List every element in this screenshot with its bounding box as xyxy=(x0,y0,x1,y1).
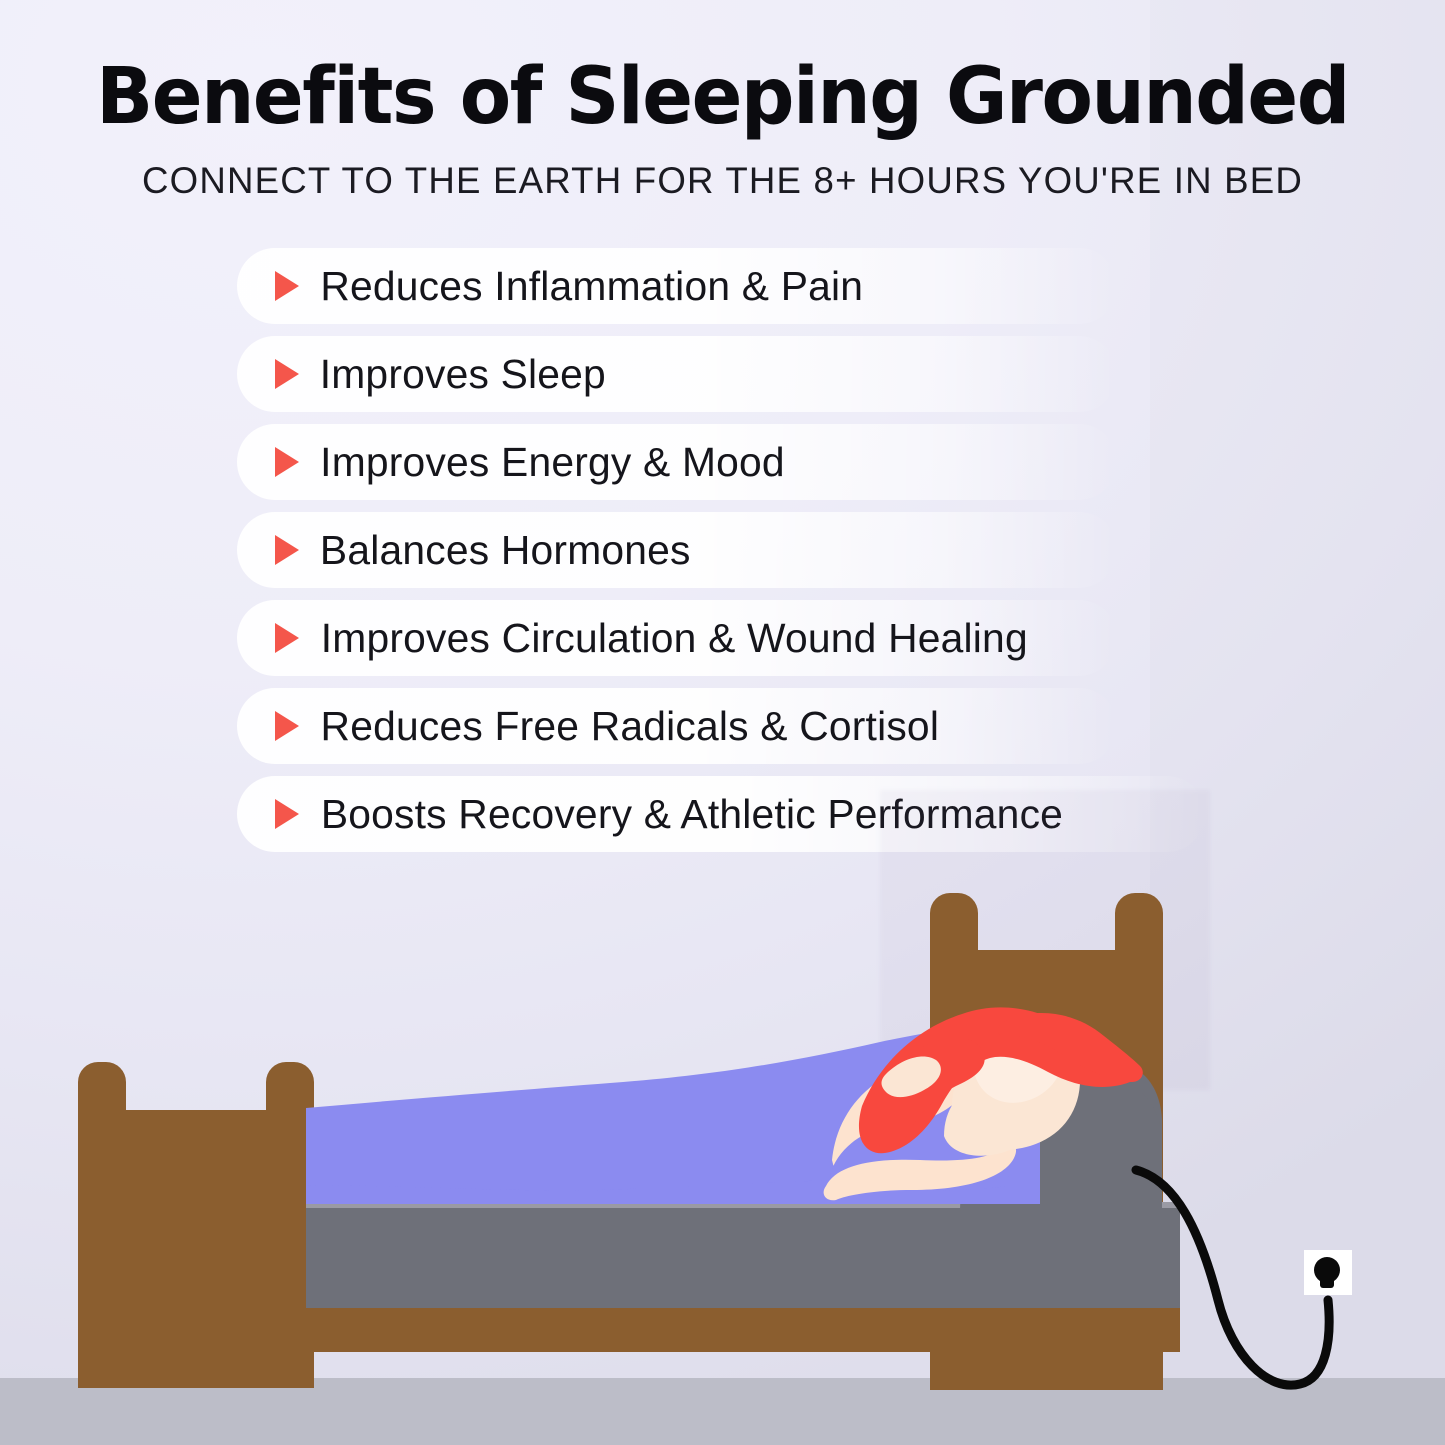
mattress xyxy=(306,1208,1180,1308)
plug-body xyxy=(1320,1272,1334,1288)
bed-illustration xyxy=(0,0,1445,1445)
wall-outlet[interactable] xyxy=(1304,1250,1352,1295)
footboard xyxy=(78,1062,314,1388)
infographic-canvas: Benefits of Sleeping Grounded CONNECT TO… xyxy=(0,0,1445,1445)
wall-shade xyxy=(1150,0,1445,1378)
floor xyxy=(0,1378,1445,1445)
bed-rail xyxy=(300,1304,1180,1352)
bed-leg-right xyxy=(930,1304,980,1388)
